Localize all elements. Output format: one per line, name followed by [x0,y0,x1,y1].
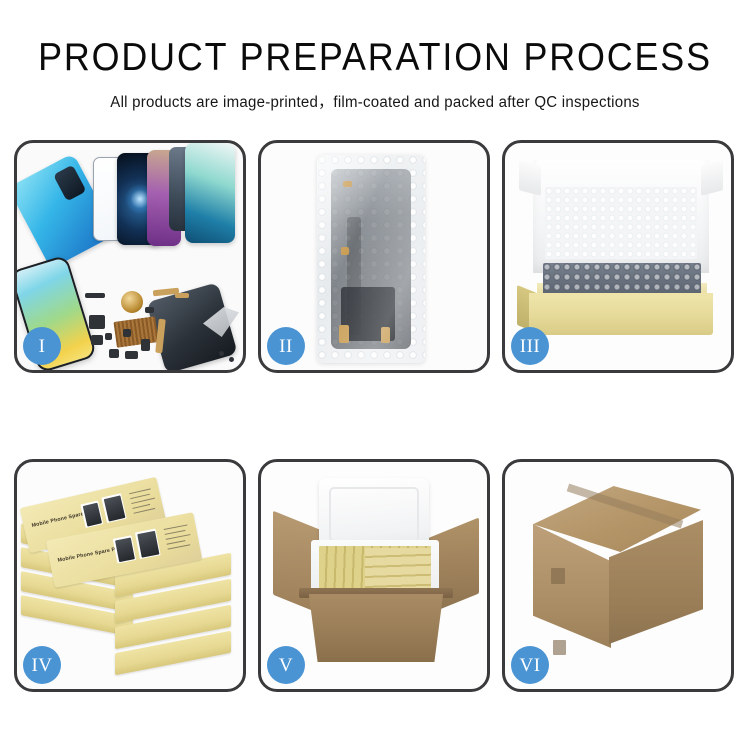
box-window [80,501,103,528]
screw-part [229,357,234,362]
box-print-line [167,540,186,545]
header: PRODUCT PREPARATION PROCESS All products… [0,0,750,112]
step-badge-1: I [23,327,61,365]
step-2-bubble-wrap: II [258,140,490,373]
box-print-line [134,508,156,514]
carton-seal-mark [551,568,565,584]
box-window [113,535,136,563]
box-window [135,529,161,560]
speaker-coil-part [121,291,143,313]
bag-gloss-highlight [317,155,425,363]
step-badge-6: VI [511,646,549,684]
page-title: PRODUCT PREPARATION PROCESS [30,38,720,77]
box-print-line [132,504,150,509]
step-4-stacked-boxes: Mobile Phone Spare Parts Mobile Phone Sp… [14,459,246,692]
step-badge-5: V [267,646,305,684]
spare-chip-part [91,335,103,345]
step-badge-4: IV [23,646,61,684]
carton-front-panel [303,594,449,662]
foam-sheet-liner [545,187,697,259]
spare-chip-part [109,349,119,358]
logic-board-part [113,316,158,348]
process-steps-grid: I II [14,140,736,680]
step-badge-2: II [267,327,305,365]
flex-cable-part [175,293,189,298]
spare-chip-part [105,333,112,340]
inner-box-front [529,293,713,335]
spare-chip-part [123,329,131,337]
step-badge-3: III [511,327,549,365]
spare-chip-part [141,339,150,351]
phone-display-teal [185,143,235,243]
step-1-components: I [14,140,246,373]
box-print-line [166,534,191,540]
step-5-foam-carton: V [258,459,490,692]
box-print-line [131,498,155,505]
box-print-line [168,544,191,550]
spare-chip-part [85,293,105,298]
screw-part [219,351,224,356]
page-subtitle: All products are image-printed，film-coat… [11,90,739,112]
box-window [101,493,126,523]
step-3-inner-box: III [502,140,734,373]
spare-chip-part [89,315,105,329]
carton-seal-mark [553,640,566,655]
step-6-sealed-carton: VI [502,459,734,692]
bubble-wrap-bag [317,155,425,363]
spare-chip-part [125,351,138,359]
product-preparation-page: PRODUCT PREPARATION PROCESS All products… [0,0,750,750]
yellow-boxes-row-2 [365,548,431,590]
box-stack: Mobile Phone Spare Parts Mobile Phone Sp… [21,478,243,678]
box-print-line [165,530,186,535]
spare-chip-part [145,307,154,313]
